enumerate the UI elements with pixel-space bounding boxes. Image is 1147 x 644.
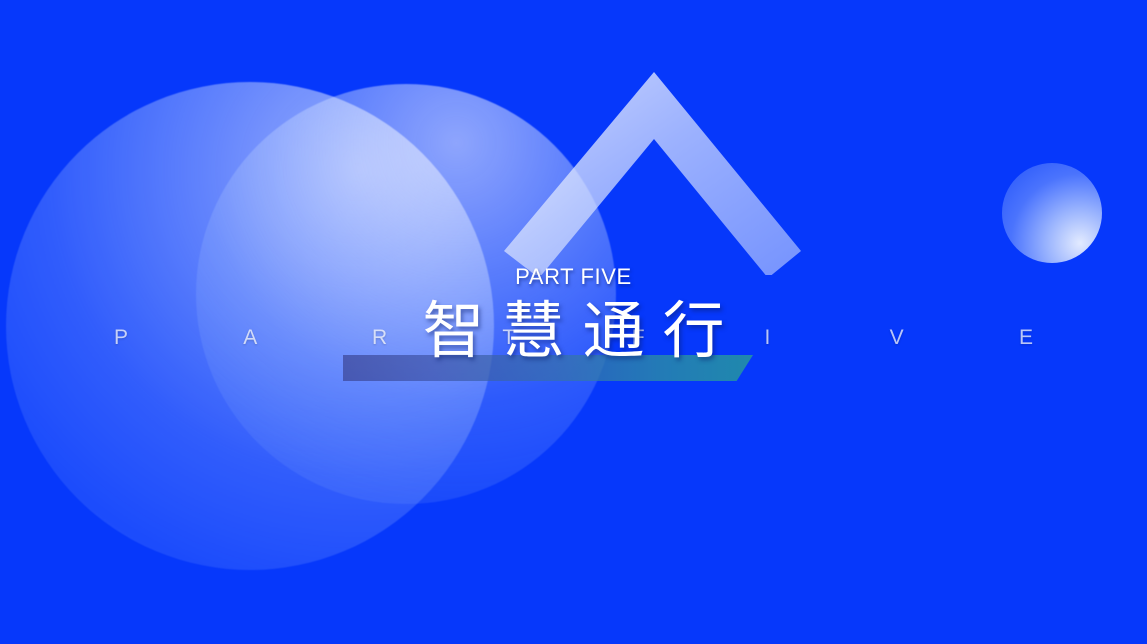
section-title: 智慧通行 bbox=[0, 292, 1147, 370]
presentation-slide: P A R T F I V E PART FIVE 智慧通行 bbox=[0, 0, 1147, 644]
small-sphere-decoration bbox=[1002, 163, 1102, 263]
section-eyebrow: PART FIVE bbox=[0, 264, 1147, 290]
chevron-decoration bbox=[455, 55, 835, 275]
